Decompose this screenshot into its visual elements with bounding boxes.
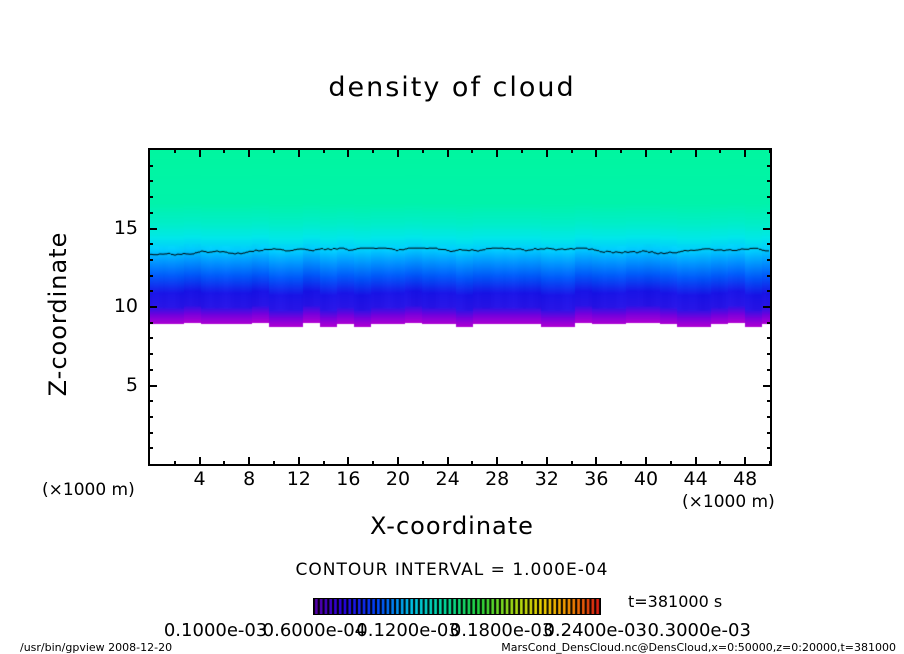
x-axis-title: X-coordinate xyxy=(0,512,904,540)
colorbar-canvas xyxy=(314,599,600,614)
colorbar xyxy=(313,598,601,615)
x-tick-label: 36 xyxy=(571,468,621,490)
x-tick-label: 12 xyxy=(274,468,324,490)
contour-interval-text: CONTOUR INTERVAL = 1.000E-04 xyxy=(0,560,904,580)
colorbar-tick-label: 0.1800e-03 xyxy=(450,620,553,641)
x-tick-label: 32 xyxy=(522,468,572,490)
colorbar-tick-label: 0.3000e-03 xyxy=(647,620,750,641)
x-tick-label: 44 xyxy=(671,468,721,490)
y-tick-label: 10 xyxy=(98,295,138,317)
plot-area xyxy=(148,148,772,466)
y-axis-units: (×1000 m) xyxy=(42,480,135,500)
colorbar-tick-label: 0.1200e-03 xyxy=(356,620,459,641)
x-axis-units: (×1000 m) xyxy=(682,492,775,512)
colorbar-tick-labels: 0.1000e-030.6000e-040.1200e-030.1800e-03… xyxy=(200,620,720,642)
heatmap-canvas xyxy=(150,150,770,464)
y-tick-label: 5 xyxy=(98,374,138,396)
footer-dataset-info: MarsCond_DensCloud.nc@DensCloud,x=0:5000… xyxy=(501,641,896,654)
x-tick-label: 20 xyxy=(373,468,423,490)
y-axis-title: Z-coordinate xyxy=(44,194,72,434)
x-tick-label: 28 xyxy=(472,468,522,490)
colorbar-tick-label: 0.2400e-03 xyxy=(543,620,646,641)
x-tick-label: 40 xyxy=(621,468,671,490)
x-tick-label: 8 xyxy=(224,468,274,490)
page-title: density of cloud xyxy=(0,72,904,103)
x-tick-label: 24 xyxy=(423,468,473,490)
x-tick-label: 4 xyxy=(175,468,225,490)
x-tick-label: 16 xyxy=(323,468,373,490)
colorbar-tick-label: 0.1000e-03 xyxy=(164,620,267,641)
y-tick-label: 15 xyxy=(98,217,138,239)
time-label: t=381000 s xyxy=(628,592,722,611)
footer-command: /usr/bin/gpview 2008-12-20 xyxy=(20,641,172,654)
colorbar-tick-label: 0.6000e-04 xyxy=(263,620,366,641)
x-tick-label: 48 xyxy=(720,468,770,490)
